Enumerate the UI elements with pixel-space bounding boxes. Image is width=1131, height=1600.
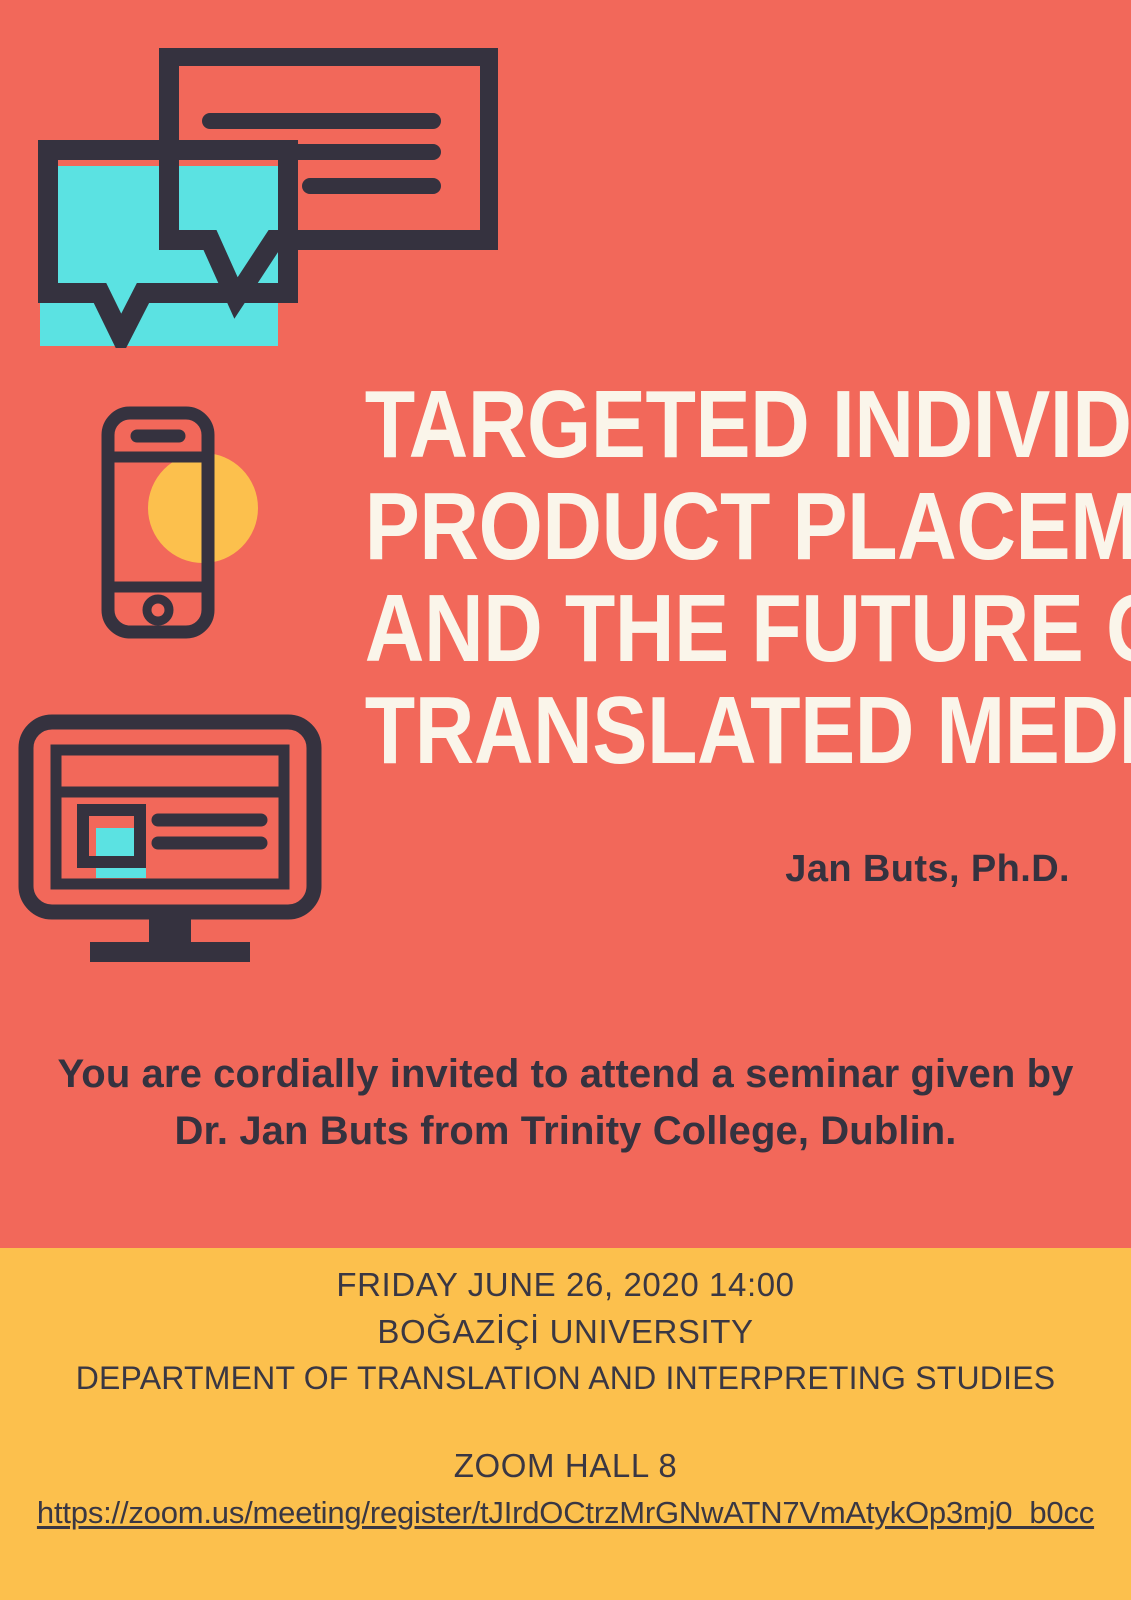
seminar-poster: TARGETED INDIVIDUALS: PRODUCT PLACEMENT …: [0, 0, 1131, 1600]
event-details: FRIDAY JUNE 26, 2020 14:00 BOĞAZİÇİ UNIV…: [0, 1262, 1131, 1401]
title-line-1: TARGETED INDIVIDUALS:: [365, 378, 1070, 472]
invitation-line-1: You are cordially invited to attend a se…: [18, 1046, 1113, 1103]
event-venue: ZOOM HALL 8: [0, 1447, 1131, 1485]
page-title: TARGETED INDIVIDUALS: PRODUCT PLACEMENT …: [250, 378, 1070, 786]
event-department: DEPARTMENT OF TRANSLATION AND INTERPRETI…: [0, 1356, 1131, 1401]
event-datetime: FRIDAY JUNE 26, 2020 14:00: [0, 1262, 1131, 1309]
title-line-4: TRANSLATED MEDIA: [365, 684, 1070, 778]
speaker-byline: Jan Buts, Ph.D.: [250, 848, 1070, 891]
title-line-3: AND THE FUTURE OF: [365, 582, 1070, 676]
invitation-line-2: Dr. Jan Buts from Trinity College, Dubli…: [18, 1103, 1113, 1160]
smartphone-icon: [100, 405, 270, 640]
invitation-text: You are cordially invited to attend a se…: [0, 1046, 1131, 1160]
title-line-2: PRODUCT PLACEMENT: [365, 480, 1070, 574]
registration-link[interactable]: https://zoom.us/meeting/register/tJIrdOC…: [0, 1495, 1131, 1531]
event-university: BOĞAZİÇİ UNIVERSITY: [0, 1309, 1131, 1356]
speech-bubbles-icon: [38, 48, 498, 348]
